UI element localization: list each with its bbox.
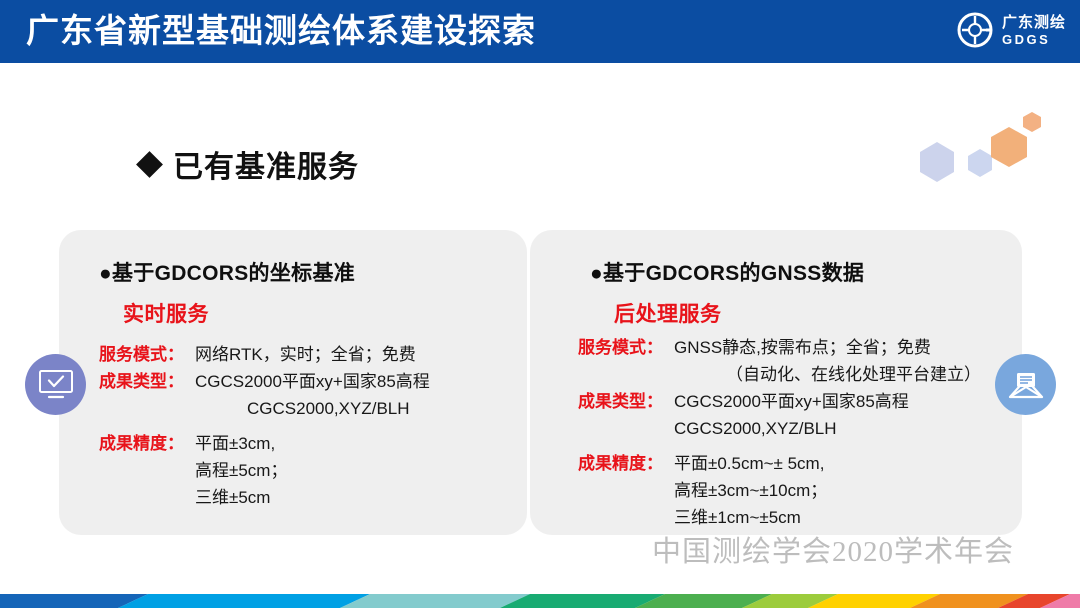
envelope-message-icon: [1008, 370, 1044, 400]
spec-row: 三维±5cm: [99, 485, 519, 510]
bar-segment-2: [340, 594, 530, 608]
card-title: ●基于GDCORS的坐标基准: [99, 257, 355, 287]
section-heading: 已有基准服务: [140, 142, 359, 186]
spec-label: 成果精度：: [578, 451, 674, 476]
spec-row: 成果精度： 平面±3cm,: [99, 431, 519, 456]
hexagon-large-lavender: [920, 142, 954, 182]
spec-value: 三维±1cm~±5cm: [674, 505, 801, 530]
card-gdcors-gnss-data: ●基于GDCORS的GNSS数据 后处理服务 服务模式： GNSS静态,按需布点…: [530, 230, 1022, 535]
spec-row: 成果类型： CGCS2000平面xy+国家85高程: [99, 369, 519, 394]
spec-row: 高程±5cm；: [99, 458, 519, 483]
spec-row: 服务模式： GNSS静态,按需布点；全省；免费: [578, 335, 1018, 360]
envelope-message-badge: [995, 354, 1056, 415]
spec-row: 三维±1cm~±5cm: [578, 505, 1018, 530]
spec-value: （自动化、在线化处理平台建立）: [674, 362, 981, 387]
spec-row: 成果类型： CGCS2000平面xy+国家85高程: [578, 389, 1018, 414]
card-title: ●基于GDCORS的GNSS数据: [590, 257, 864, 287]
spec-value: 高程±3cm~±10cm；: [674, 478, 827, 503]
spec-value: 平面±0.5cm~± 5cm,: [674, 451, 824, 476]
spec-value: CGCS2000,XYZ/BLH: [195, 396, 410, 421]
spec-value: CGCS2000平面xy+国家85高程: [674, 389, 909, 414]
card-subtitle: 实时服务: [123, 298, 209, 328]
bar-segment-1: [118, 594, 370, 608]
spec-label: 成果类型：: [578, 389, 674, 414]
gdgs-logo: 广东测绘 GDGS: [956, 11, 1066, 49]
spec-label: 服务模式：: [99, 342, 195, 367]
spec-list: 服务模式： 网络RTK，实时；全省；免费 成果类型： CGCS2000平面xy+…: [99, 342, 519, 512]
spec-row: 服务模式： 网络RTK，实时；全省；免费: [99, 342, 519, 367]
spec-gap: [99, 423, 519, 431]
spec-gap: [578, 443, 1018, 451]
spec-row: 成果精度： 平面±0.5cm~± 5cm,: [578, 451, 1018, 476]
spec-value: GNSS静态,按需布点；全省；免费: [674, 335, 931, 360]
spec-row: （自动化、在线化处理平台建立）: [578, 362, 1018, 387]
hexagon-large-orange: [991, 127, 1027, 167]
spec-label: 服务模式：: [578, 335, 674, 360]
spec-value: 平面±3cm,: [195, 431, 275, 456]
diamond-bullet-icon: [136, 151, 163, 178]
gdgs-emblem-icon: [956, 11, 994, 49]
spec-value: 三维±5cm: [195, 485, 270, 510]
page-title: 广东省新型基础测绘体系建设探索: [26, 9, 536, 53]
spec-row: 高程±3cm~±10cm；: [578, 478, 1018, 503]
bottom-color-bar: [0, 590, 1080, 608]
monitor-check-badge: [25, 354, 86, 415]
section-heading-label: 已有基准服务: [173, 142, 359, 186]
spec-row: CGCS2000,XYZ/BLH: [578, 416, 1018, 441]
spec-list: 服务模式： GNSS静态,按需布点；全省；免费 （自动化、在线化处理平台建立） …: [578, 335, 1018, 532]
card-subtitle: 后处理服务: [614, 298, 722, 328]
gdgs-logo-text: 广东测绘 GDGS: [1002, 15, 1066, 46]
hexagon-small-orange: [1023, 112, 1041, 132]
spec-row: CGCS2000,XYZ/BLH: [99, 396, 519, 421]
spec-value: 高程±5cm；: [195, 458, 287, 483]
monitor-check-icon: [37, 369, 75, 401]
gdgs-logo-cn: 广东测绘: [1002, 15, 1066, 30]
spec-label: 成果类型：: [99, 369, 195, 394]
hexagon-small-lavender: [968, 149, 992, 177]
spec-value: CGCS2000,XYZ/BLH: [674, 416, 837, 441]
card-gdcors-coordinate-datum: ●基于GDCORS的坐标基准 实时服务 服务模式： 网络RTK，实时；全省；免费…: [59, 230, 527, 535]
spec-value: 网络RTK，实时；全省；免费: [195, 342, 416, 367]
spec-label: 成果精度：: [99, 431, 195, 456]
watermark-text: 中国测绘学会2020学术年会: [652, 528, 1014, 570]
header-bar: 广东省新型基础测绘体系建设探索 广东测绘 GDGS: [0, 0, 1080, 63]
hexagon-decoration: [890, 100, 1080, 210]
gdgs-logo-en: GDGS: [1002, 33, 1050, 46]
spec-value: CGCS2000平面xy+国家85高程: [195, 369, 430, 394]
